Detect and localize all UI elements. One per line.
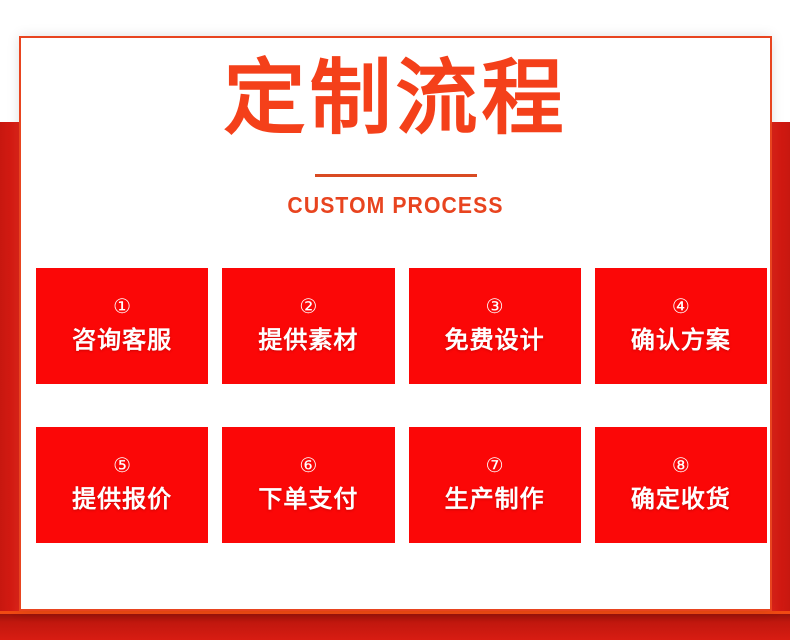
page-subtitle: CUSTOM PROCESS [51,192,740,219]
step-number-icon: ② [299,296,317,316]
step-number-icon: ⑧ [672,455,690,475]
step-label: 咨询客服 [72,328,172,352]
step-card-8[interactable]: ⑧ 确定收货 [595,427,767,543]
step-label: 下单支付 [258,487,358,511]
step-card-6[interactable]: ⑥ 下单支付 [222,427,394,543]
title-divider [315,174,477,177]
step-label: 提供报价 [72,487,172,511]
step-card-7[interactable]: ⑦ 生产制作 [409,427,581,543]
background-bottom-red-band [0,611,790,640]
step-number-icon: ⑦ [486,455,504,475]
step-number-icon: ⑥ [299,455,317,475]
custom-process-poster: 定制流程 CUSTOM PROCESS ① 咨询客服 ② 提供素材 ③ 免费设计… [0,0,790,640]
step-number-icon: ⑤ [113,455,131,475]
step-label: 免费设计 [445,328,545,352]
page-title: 定制流程 [21,58,770,140]
step-number-icon: ① [113,296,131,316]
step-card-5[interactable]: ⑤ 提供报价 [36,427,208,543]
step-label: 确认方案 [631,328,731,352]
step-number-icon: ③ [486,296,504,316]
step-label: 提供素材 [258,328,358,352]
content-card: 定制流程 CUSTOM PROCESS ① 咨询客服 ② 提供素材 ③ 免费设计… [19,36,772,611]
step-card-3[interactable]: ③ 免费设计 [409,268,581,384]
step-card-2[interactable]: ② 提供素材 [222,268,394,384]
process-steps-grid: ① 咨询客服 ② 提供素材 ③ 免费设计 ④ 确认方案 ⑤ 提供报价 ⑥ [36,268,767,543]
heading-block: 定制流程 CUSTOM PROCESS [21,58,770,219]
step-card-4[interactable]: ④ 确认方案 [595,268,767,384]
step-label: 生产制作 [445,487,545,511]
step-number-icon: ④ [672,296,690,316]
step-label: 确定收货 [631,487,731,511]
step-card-1[interactable]: ① 咨询客服 [36,268,208,384]
